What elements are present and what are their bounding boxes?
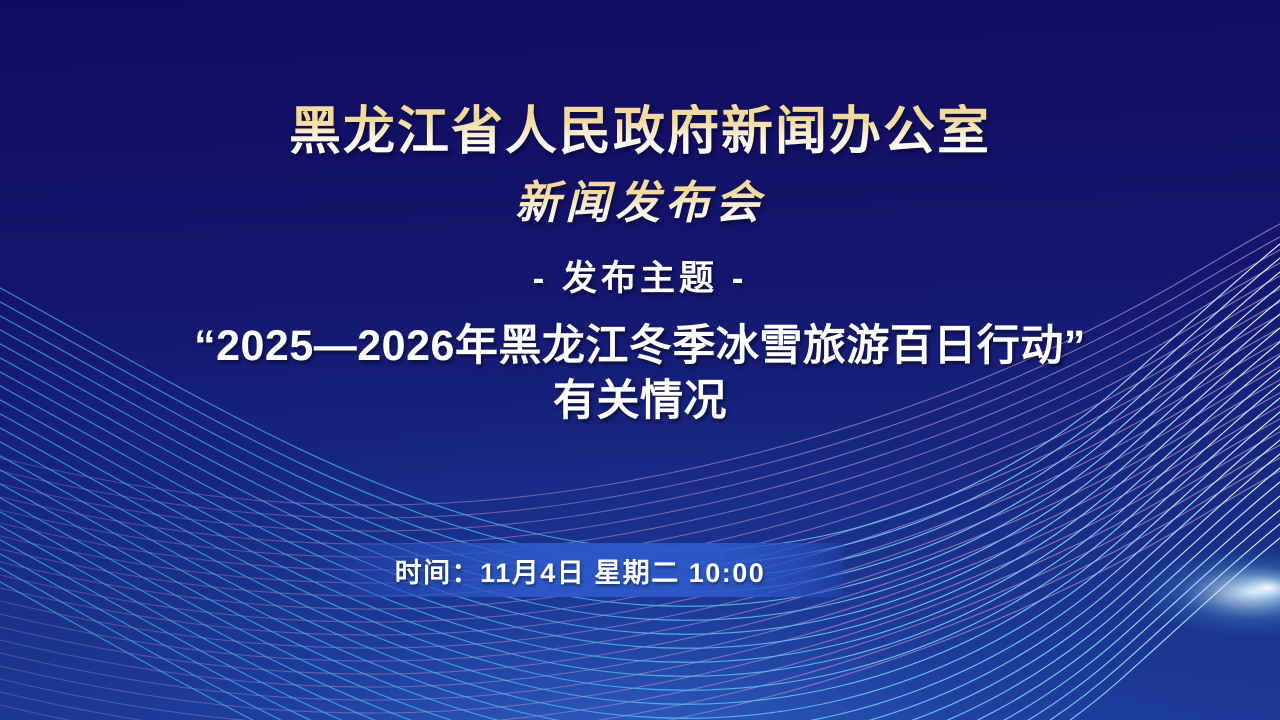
time-text: 时间：11月4日 星期二 10:00 (395, 551, 766, 590)
theme-line-2: 有关情况 (194, 374, 1086, 429)
press-conference-slide: 黑龙江省人民政府新闻办公室 新闻发布会 - 发布主题 - “2025—2026年… (0, 0, 1280, 720)
slide-content: 黑龙江省人民政府新闻办公室 新闻发布会 - 发布主题 - “2025—2026年… (0, 0, 1280, 720)
press-conference-subtitle: 新闻发布会 (515, 178, 765, 228)
organization-title: 黑龙江省人民政府新闻办公室 (289, 104, 991, 162)
theme-line-1: “2025—2026年黑龙江冬季冰雪旅游百日行动” (194, 319, 1086, 374)
theme-text-block: “2025—2026年黑龙江冬季冰雪旅游百日行动” 有关情况 (194, 319, 1086, 429)
theme-label: - 发布主题 - (533, 250, 748, 301)
time-band: 时间：11月4日 星期二 10:00 (316, 543, 844, 597)
